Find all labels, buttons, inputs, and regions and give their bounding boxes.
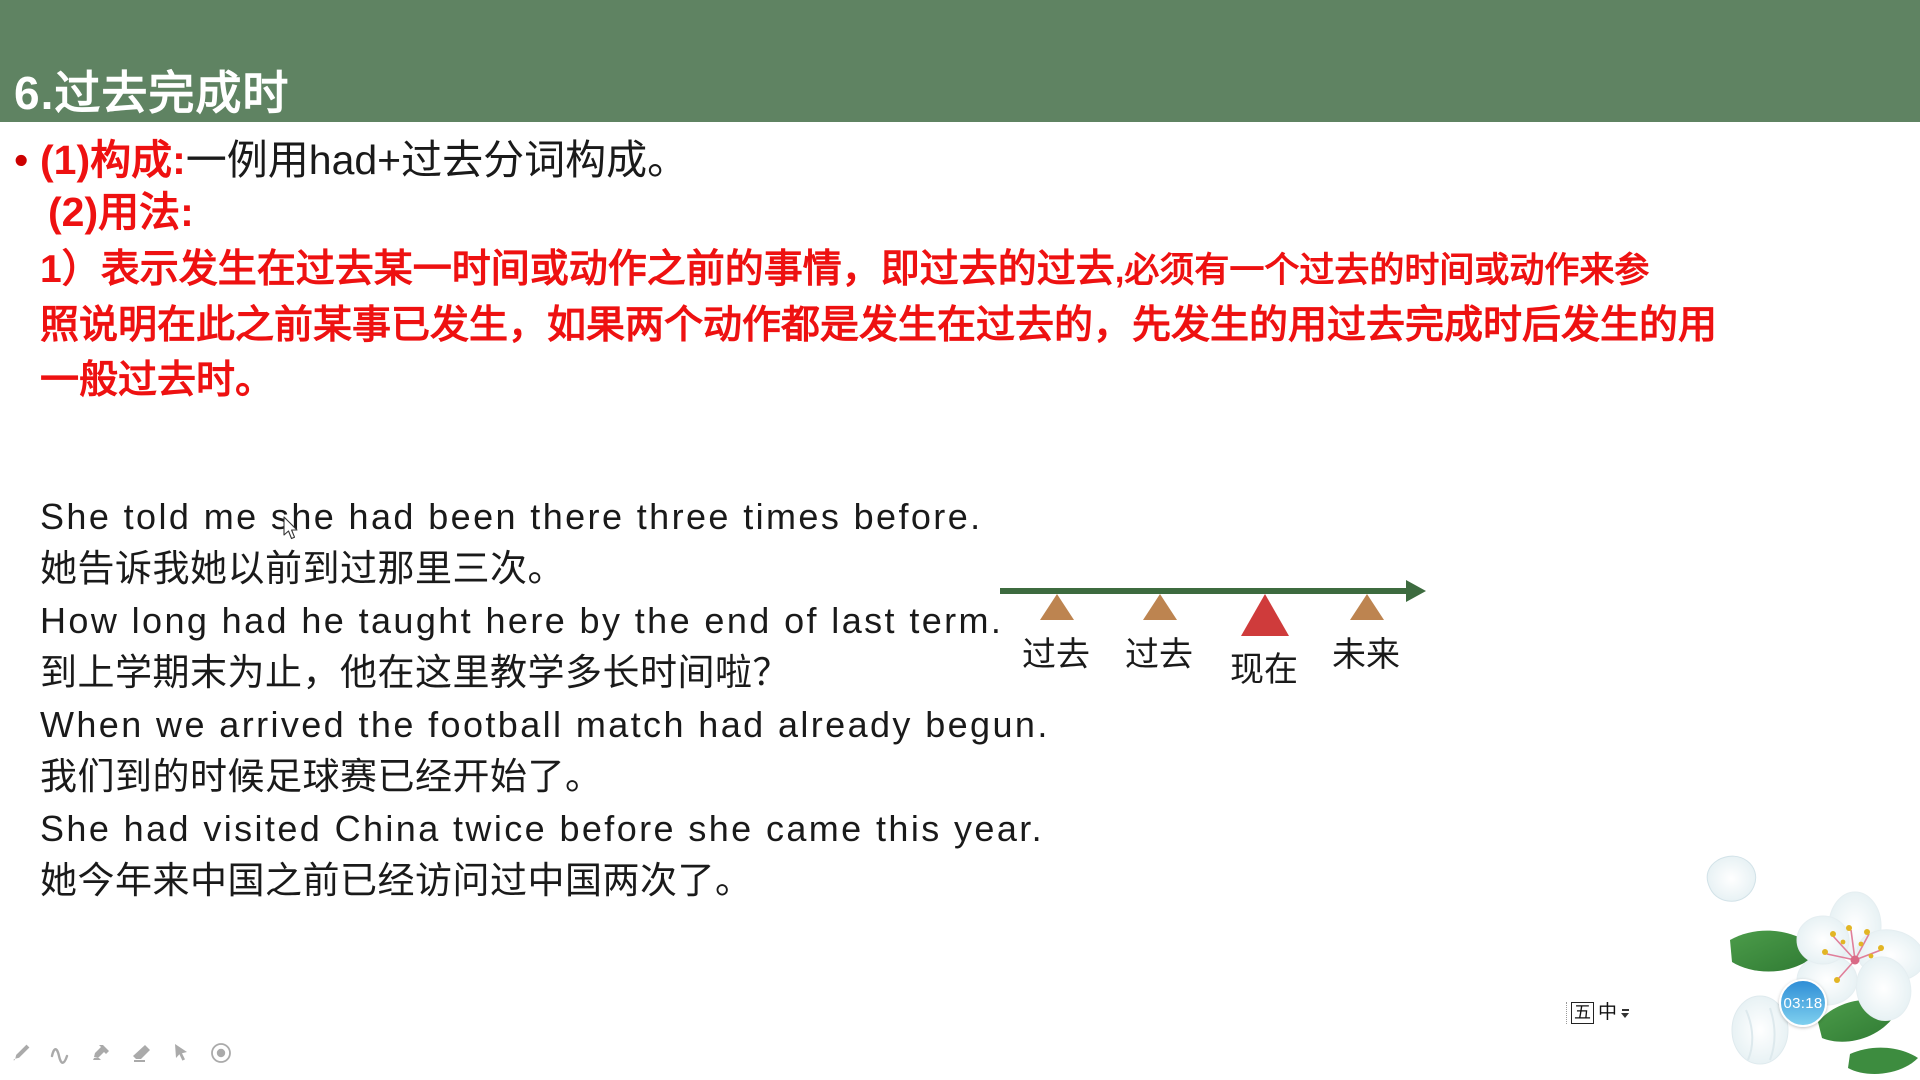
example-chinese-3: 我们到的时候足球赛已经开始了。 [40, 751, 1140, 803]
usage-paragraph-line-3: 一般过去时。 [40, 353, 1910, 408]
usage-paragraph-line-1: 1）表示发生在过去某一时间或动作之前的事情，即过去的过去,必须有一个过去的时间或… [40, 242, 1910, 298]
eraser-icon[interactable] [128, 1040, 154, 1066]
highlighter-icon[interactable] [88, 1040, 114, 1066]
example-chinese-2: 到上学期末为止，他在这里教学多长时间啦？ [40, 647, 1140, 699]
example-chinese-4: 她今年来中国之前已经访问过中国两次了。 [40, 855, 1140, 907]
timeline-diagram: 过去 过去 现在 未来 [1000, 575, 1440, 675]
example-english-2: How long had he taught here by the end o… [40, 595, 1140, 647]
example-english-3: When we arrived the football match had a… [40, 699, 1140, 751]
pen-icon[interactable] [8, 1040, 34, 1066]
ink-toolbar[interactable] [8, 1040, 234, 1066]
watermark-menu-icon [1621, 1009, 1629, 1018]
mouse-cursor-icon [283, 516, 301, 542]
curve-icon[interactable] [48, 1040, 74, 1066]
bullet-point: • [14, 140, 40, 181]
record-icon[interactable] [208, 1040, 234, 1066]
triangle-marker-icon [1040, 594, 1074, 620]
usage-description-paragraph: 1）表示发生在过去某一时间或动作之前的事情，即过去的过去,必须有一个过去的时间或… [40, 242, 1910, 408]
example-english-1: She told me she had been there three tim… [40, 491, 1140, 543]
usage-paragraph-segment-a: 1）表示发生在过去某一时间或动作之前的事情，即过去的过去 [40, 248, 1115, 291]
watermark: 五 中 [1566, 1002, 1629, 1024]
page-title: 6.过去完成时 [14, 70, 289, 116]
triangle-marker-highlight-icon [1241, 594, 1289, 636]
composition-label: (1)构成: [40, 137, 186, 183]
timeline-arrow-icon [1406, 580, 1426, 602]
composition-line: •(1)构成:一例用had+过去分词构成。 [14, 140, 688, 181]
pointer-icon[interactable] [168, 1040, 194, 1066]
usage-paragraph-line-2: 照说明在此之前某事已发生，如果两个动作都是发生在过去的，先发生的用过去完成时后发… [40, 298, 1910, 353]
timer-badge[interactable]: 03:18 [1779, 979, 1827, 1027]
watermark-box-char: 五 [1571, 1002, 1594, 1024]
composition-text: 一例用had+过去分词构成。 [186, 137, 688, 183]
timeline-label-1: 过去 [1022, 627, 1090, 676]
cherry-blossom-decoration [1700, 840, 1920, 1080]
timeline-label-3: 现在 [1230, 642, 1298, 691]
watermark-char: 中 [1598, 1003, 1617, 1023]
timeline-label-2: 过去 [1125, 627, 1193, 676]
presentation-slide: 6.过去完成时 •(1)构成:一例用had+过去分词构成。 (2)用法: 1）表… [0, 0, 1920, 1080]
slide-header-banner: 6.过去完成时 [0, 0, 1920, 122]
triangle-marker-icon [1143, 594, 1177, 620]
triangle-marker-icon [1350, 594, 1384, 620]
example-english-4: She had visited China twice before she c… [40, 803, 1140, 855]
example-chinese-1: 她告诉我她以前到过那里三次。 [40, 543, 1140, 595]
timeline-label-4: 未来 [1332, 627, 1400, 676]
usage-label: (2)用法: [48, 192, 194, 233]
usage-paragraph-segment-b: ,必须有一个过去的时间或动作来参 [1115, 251, 1650, 290]
example-sentences-list: She told me she had been there three tim… [40, 491, 1140, 907]
